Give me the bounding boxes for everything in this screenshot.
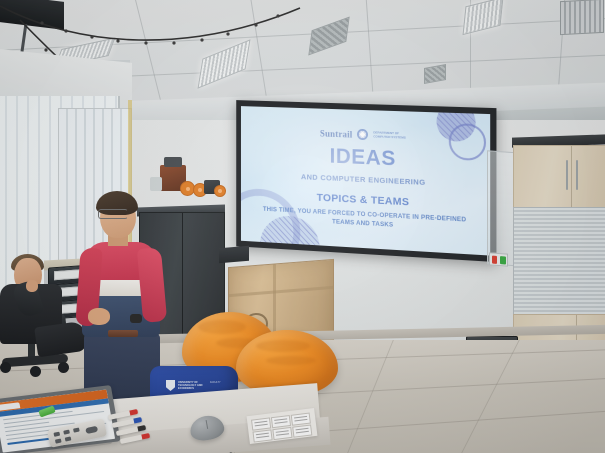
presenter-belt (108, 330, 138, 337)
univ-line-3: ECONOMICS (178, 387, 194, 390)
screen-control-panel[interactable] (489, 252, 508, 266)
university-logo-text: UNIVERSITY OF TECHNOLOGY AND ECONOMICS (178, 381, 203, 391)
department-logo-text: DEPARTMENT OF COMPUTER SYSTEMS (373, 131, 405, 140)
department-logo-icon (357, 129, 368, 140)
seated-attendee (0, 258, 86, 376)
dept-line-2: COMPUTER SYSTEMS (373, 134, 405, 139)
projection-screen: Suntrail DEPARTMENT OF COMPUTER SYSTEMS … (236, 100, 496, 262)
photo-scene: Presentation Slide 4-2 Suntrail DEPARTME… (0, 0, 605, 453)
screen-go-button[interactable] (500, 256, 506, 264)
suntrail-wordmark: Suntrail (320, 128, 353, 139)
presenter-glasses (98, 209, 128, 219)
robot-model-panel (150, 177, 162, 191)
slide-content: Suntrail DEPARTMENT OF COMPUTER SYSTEMS … (241, 106, 490, 255)
upper-wood-cabinet[interactable] (513, 145, 605, 209)
university-logo-side-text: FACULTY (210, 382, 221, 385)
mouse-button-seam (205, 420, 208, 429)
small-black-box (219, 246, 249, 264)
screen-stop-button[interactable] (492, 255, 498, 263)
robot-wheel (214, 185, 226, 197)
university-crest-icon (166, 380, 175, 391)
presenter-wristwatch (130, 314, 142, 323)
seated-attendee-hand (26, 280, 38, 292)
slide-surface: Suntrail DEPARTMENT OF COMPUTER SYSTEMS … (241, 106, 490, 255)
cabinet-roller-shutter[interactable] (513, 207, 605, 316)
robot-model-head (164, 157, 182, 167)
presenter-hands (88, 308, 110, 325)
presenter-right-arm (137, 247, 167, 323)
